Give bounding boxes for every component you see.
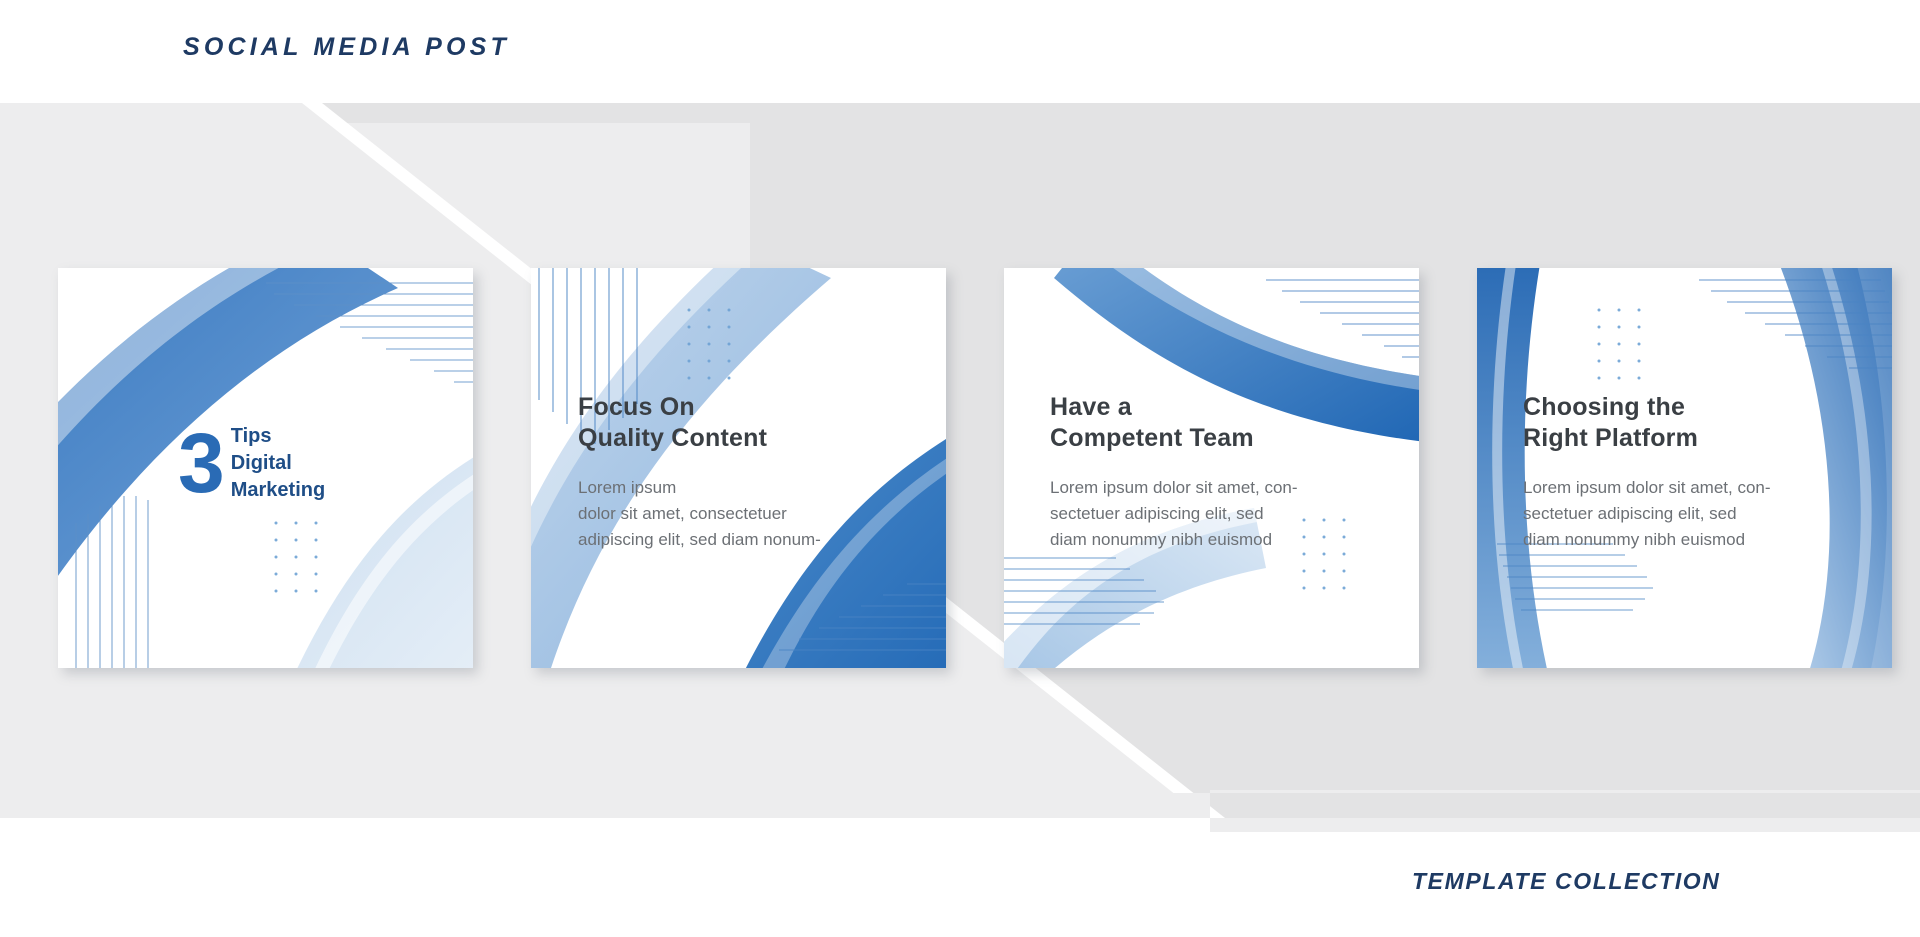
card-4-heading: Choosing the Right Platform <box>1523 392 1853 453</box>
page-title-bottom: TEMPLATE COLLECTION <box>1412 868 1721 895</box>
card-3-body: Lorem ipsum dolor sit amet, con- sectetu… <box>1050 475 1380 553</box>
card-2-text-block: Focus On Quality Content Lorem ipsum dol… <box>578 392 868 553</box>
poster-canvas: SOCIAL MEDIA POST <box>0 0 1920 937</box>
card-4-body: Lorem ipsum dolor sit amet, con- sectetu… <box>1523 475 1853 553</box>
page-title-top: SOCIAL MEDIA POST <box>183 33 510 62</box>
card-3-heading: Have a Competent Team <box>1050 392 1380 453</box>
card-2-heading: Focus On Quality Content <box>578 392 868 453</box>
card-1-lockup: 3 Tips Digital Marketing <box>178 423 325 504</box>
card-3-text-block: Have a Competent Team Lorem ipsum dolor … <box>1050 392 1380 553</box>
card-4-text-block: Choosing the Right Platform Lorem ipsum … <box>1523 392 1853 553</box>
card-1-lockup-words: Tips Digital Marketing <box>231 423 325 504</box>
card-1-number: 3 <box>178 429 223 498</box>
card-2-body: Lorem ipsum dolor sit amet, consectetuer… <box>578 475 868 553</box>
